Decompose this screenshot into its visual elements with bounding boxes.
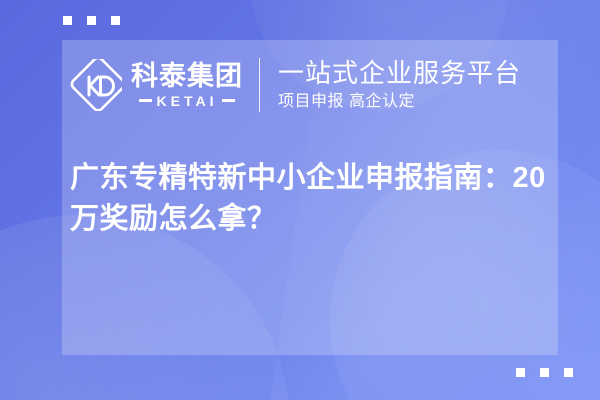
square-dot xyxy=(111,16,120,25)
ketai-kd-monogram-icon xyxy=(70,59,122,111)
decorative-dots-bottom-right xyxy=(516,368,573,377)
square-dot xyxy=(63,16,72,25)
brand-name-cn: 科泰集团 xyxy=(131,63,243,90)
content-panel: 科泰集团 KETAI 一站式企业服务平台 项目申报 高企认定 广东专精特新中小企… xyxy=(62,40,558,355)
brand-wordmark: 科泰集团 KETAI xyxy=(131,63,243,108)
square-dot xyxy=(564,368,573,377)
square-dot xyxy=(516,368,525,377)
brand-header: 科泰集团 KETAI 一站式企业服务平台 项目申报 高企认定 xyxy=(62,40,558,130)
brand-lockup: 科泰集团 KETAI xyxy=(70,59,243,111)
wordmark-rule-left xyxy=(139,99,152,102)
tagline-sub: 项目申报 高企认定 xyxy=(278,92,521,111)
brand-name-en-row: KETAI xyxy=(139,94,236,108)
square-dot xyxy=(540,368,549,377)
square-dot xyxy=(87,16,96,25)
tagline-block: 一站式企业服务平台 项目申报 高企认定 xyxy=(278,59,521,112)
tagline-main: 一站式企业服务平台 xyxy=(278,59,521,88)
promo-banner: 科泰集团 KETAI 一站式企业服务平台 项目申报 高企认定 广东专精特新中小企… xyxy=(0,0,600,400)
headline-text: 广东专精特新中小企业申报指南：20万奖励怎么拿？ xyxy=(70,158,550,240)
vertical-divider xyxy=(259,58,260,112)
wordmark-rule-right xyxy=(222,99,235,102)
decorative-dots-top-left xyxy=(63,16,120,25)
brand-name-en: KETAI xyxy=(157,94,218,108)
